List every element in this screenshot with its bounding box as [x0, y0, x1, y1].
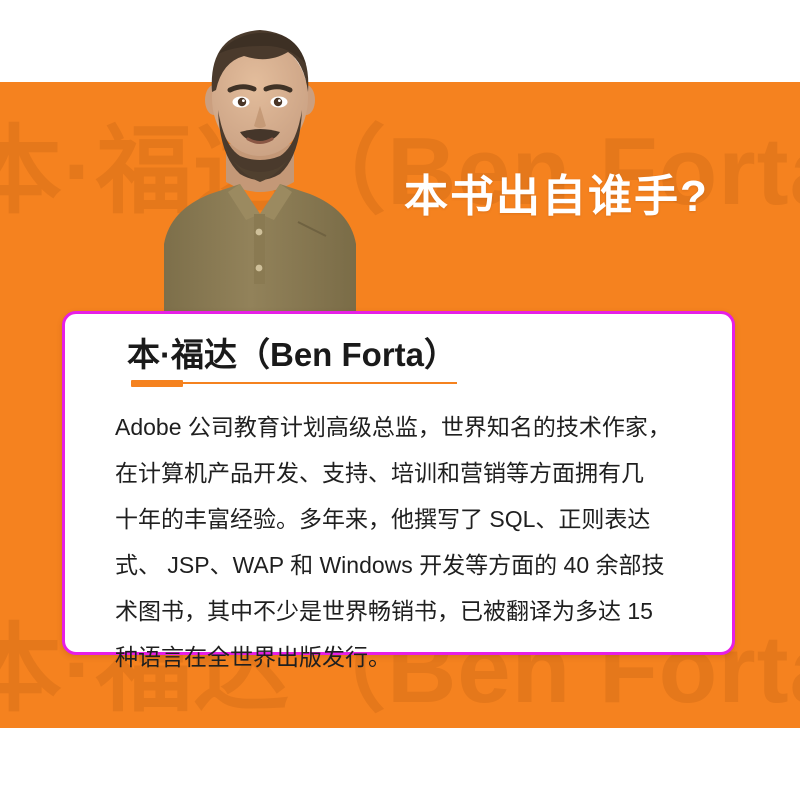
- author-name-heading: 本·福达（Ben Forta）: [127, 328, 457, 376]
- bio-line: Adobe 公司教育计划高级总监，世界知名的技术作家，: [115, 404, 695, 450]
- author-bio: Adobe 公司教育计划高级总监，世界知名的技术作家， 在计算机产品开发、支持、…: [115, 404, 695, 680]
- bio-line: 在计算机产品开发、支持、培训和营销等方面拥有几: [115, 450, 695, 496]
- title-underline: [131, 378, 457, 388]
- portrait-illustration: [148, 6, 372, 318]
- page-title: 本书出自谁手?: [404, 160, 709, 224]
- bio-line: 术图书，其中不少是世界畅销书，已被翻译为多达 15: [115, 588, 695, 634]
- poster-root: 本·福达（Ben Forta） 本·福达（Ben Forta）: [0, 0, 800, 800]
- author-portrait: [148, 6, 372, 318]
- author-info-card: 本·福达（Ben Forta） Adobe 公司教育计划高级总监，世界知名的技术…: [62, 311, 735, 655]
- bio-line: 式、 JSP、WAP 和 Windows 开发等方面的 40 余部技: [115, 542, 695, 588]
- underline-thin-segment: [183, 382, 457, 384]
- bio-line: 种语言在全世界出版发行。: [115, 634, 695, 680]
- underline-thick-segment: [131, 380, 183, 387]
- bio-line: 十年的丰富经验。多年来，他撰写了 SQL、正则表达: [115, 496, 695, 542]
